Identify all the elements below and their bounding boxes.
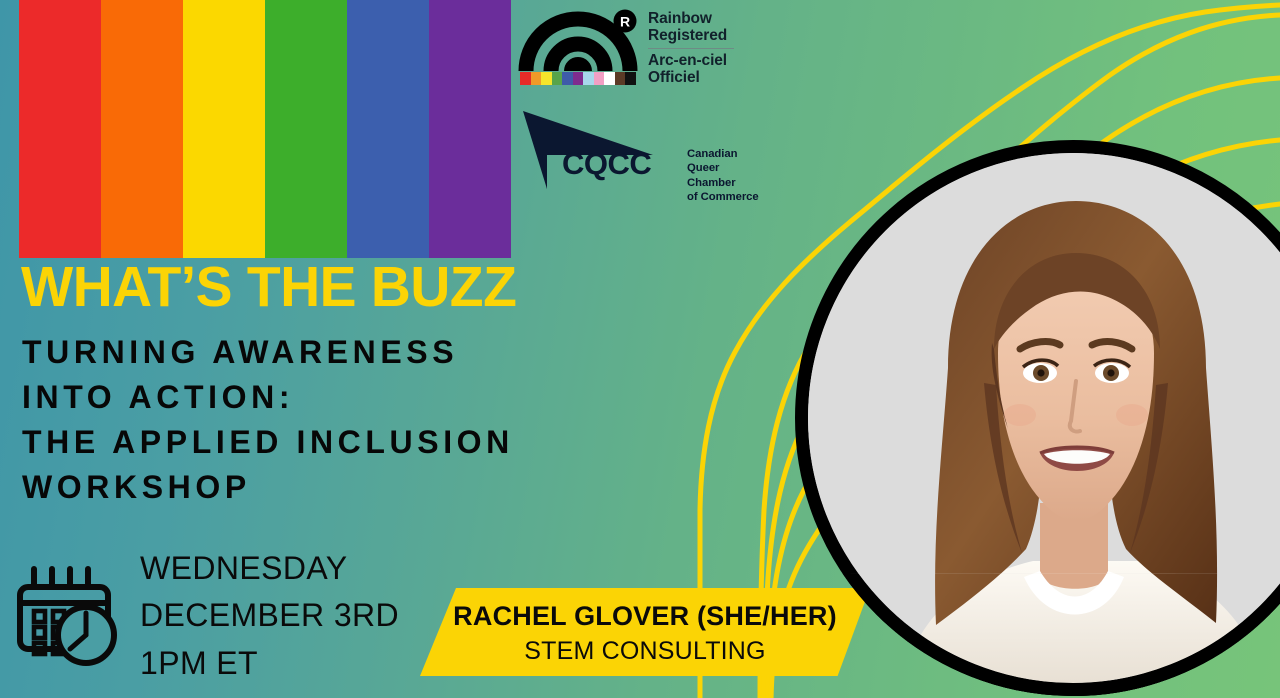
swatch bbox=[594, 72, 605, 85]
rr-line-1: Rainbow bbox=[648, 10, 734, 27]
swatch bbox=[562, 72, 573, 85]
event-time: 1PM ET bbox=[140, 640, 399, 687]
stripe-orange bbox=[101, 0, 183, 258]
cqcc-wordmark: CQCC bbox=[562, 146, 651, 182]
subhead-line-3: THE APPLIED INCLUSION bbox=[22, 420, 514, 465]
rr-divider bbox=[648, 48, 734, 49]
swatch bbox=[531, 72, 542, 85]
registered-trademark-icon: R bbox=[614, 10, 637, 33]
cqcc-tagline: Canadian Queer Chamber of Commerce bbox=[687, 147, 770, 205]
swatch bbox=[552, 72, 563, 85]
swatch bbox=[583, 72, 594, 85]
speaker-name: RACHEL GLOVER (SHE/HER) bbox=[420, 601, 870, 632]
rainbow-swatch-bar bbox=[520, 72, 636, 85]
rainbow-registered-logo: R Rainbow Registered Arc-en-ciel bbox=[518, 5, 753, 90]
rr-line-4: Officiel bbox=[648, 69, 734, 86]
poster-subheadline: TURNING AWARENESS INTO ACTION: THE APPLI… bbox=[22, 330, 514, 510]
calendar-clock-icon bbox=[14, 559, 118, 669]
rainbow-pride-stripes bbox=[19, 0, 511, 258]
rr-line-2: Registered bbox=[648, 27, 734, 44]
cqcc-logo: CQCC Canadian Queer Chamber of Commerce bbox=[520, 105, 770, 190]
stripe-yellow bbox=[183, 0, 265, 258]
event-datetime-block: WEDNESDAY DECEMBER 3RD 1PM ET bbox=[14, 545, 399, 687]
event-datetime-text: WEDNESDAY DECEMBER 3RD 1PM ET bbox=[140, 545, 399, 687]
rr-line-3: Arc-en-ciel bbox=[648, 52, 734, 69]
cqcc-line-2: Queer Chamber bbox=[687, 161, 770, 190]
swatch bbox=[541, 72, 552, 85]
cqcc-line-1: Canadian bbox=[687, 147, 770, 161]
stripe-green bbox=[265, 0, 347, 258]
stripe-red bbox=[19, 0, 101, 258]
speaker-organization: STEM CONSULTING bbox=[420, 637, 870, 666]
event-date: DECEMBER 3RD bbox=[140, 592, 399, 639]
cqcc-line-3: of Commerce bbox=[687, 190, 770, 204]
rainbow-registered-wordmark: Rainbow Registered Arc-en-ciel Officiel bbox=[648, 5, 734, 86]
speaker-name-banner: RACHEL GLOVER (SHE/HER) STEM CONSULTING bbox=[420, 588, 870, 676]
stripe-purple bbox=[429, 0, 511, 258]
subhead-line-2: INTO ACTION: bbox=[22, 375, 514, 420]
swatch bbox=[520, 72, 531, 85]
event-day: WEDNESDAY bbox=[140, 545, 399, 592]
subhead-line-4: WORKSHOP bbox=[22, 465, 514, 510]
stripe-blue bbox=[347, 0, 429, 258]
svg-text:R: R bbox=[620, 14, 630, 30]
swatch bbox=[625, 72, 636, 85]
poster-headline: WHAT’S THE BUZZ bbox=[21, 259, 516, 316]
event-promo-poster: R Rainbow Registered Arc-en-ciel bbox=[0, 0, 1280, 698]
subhead-line-1: TURNING AWARENESS bbox=[22, 330, 514, 375]
swatch bbox=[615, 72, 626, 85]
swatch bbox=[573, 72, 584, 85]
swatch bbox=[604, 72, 615, 85]
rainbow-arcs-icon: R bbox=[518, 5, 638, 87]
